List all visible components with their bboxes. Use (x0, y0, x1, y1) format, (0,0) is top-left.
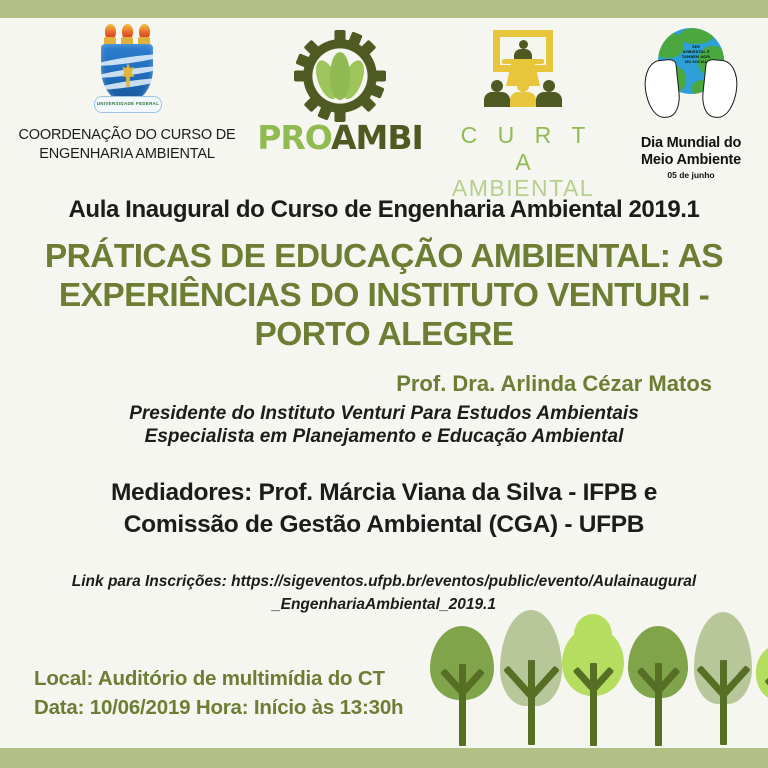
dia-mundial-title-line2: Meio Ambiente (618, 152, 764, 169)
ufpb-ribbon: UNIVERSIDADE FEDERAL DA PARAIBA (94, 96, 162, 113)
poster-content: Aula Inaugural do Curso de Engenharia Am… (0, 196, 768, 616)
event-logistics: Local: Auditório de multimídia do CT Dat… (34, 664, 403, 722)
audience-figure-icon (510, 80, 536, 106)
event-poster: UNIVERSIDADE FEDERAL DA PARAIBA COORDENA… (0, 0, 768, 768)
mediators-block: Mediadores: Prof. Márcia Viana da Silva … (0, 477, 768, 542)
speaker-role-line2: Especialista em Planejamento e Educação … (40, 425, 728, 449)
ufpb-caption-line1: COORDENAÇÃO DO CURSO DE (2, 126, 252, 145)
tree-crown-lobe (574, 614, 612, 656)
proambi-word-ambi: AMBI (331, 118, 423, 157)
audience-figure-icon (536, 80, 562, 106)
proambi-wordmark: PROAMBI (252, 118, 428, 157)
dia-mundial-subtitle: 05 de junho (618, 170, 764, 180)
tree-trunk (590, 663, 597, 746)
speaker-role-line1: Presidente do Instituto Venturi Para Est… (40, 402, 728, 426)
logo-ufpb: UNIVERSIDADE FEDERAL DA PARAIBA COORDENA… (2, 22, 252, 163)
tree-4 (628, 626, 688, 748)
event-datetime: Data: 10/06/2019 Hora: Início às 13:30h (34, 693, 403, 722)
top-accent-bar (0, 0, 768, 18)
tree-6 (756, 644, 768, 748)
shield-icon (101, 44, 153, 102)
dia-mundial-title-line1: Dia Mundial do (618, 135, 764, 152)
event-headline: Aula Inaugural do Curso de Engenharia Am… (0, 196, 768, 224)
presentation-audience-icon (468, 28, 578, 124)
curta-wordmark-line1: C U R T A (438, 122, 608, 176)
mediators-line2: Comissão de Gestão Ambiental (CGA) - UFP… (24, 509, 744, 541)
gear-leaf-icon (294, 30, 386, 122)
hand-right-icon (700, 58, 740, 119)
ufpb-caption-line2: ENGENHARIA AMBIENTAL (2, 145, 252, 164)
main-title-line3: PORTO ALEGRE (28, 316, 740, 355)
proambi-word-pro: PRO (257, 118, 331, 157)
tree-5 (694, 612, 752, 748)
event-location: Local: Auditório de multimídia do CT (34, 664, 403, 693)
audience-figure-icon (484, 80, 510, 106)
registration-link-line1[interactable]: Link para Inscrições: https://sigeventos… (60, 570, 708, 593)
logo-proambi: PROAMBI (252, 30, 428, 157)
bottom-accent-bar (0, 748, 768, 768)
logo-curta-ambiental: C U R T A AMBIENTAL (438, 28, 608, 202)
ufpb-coat-of-arms-icon: UNIVERSIDADE FEDERAL DA PARAIBA (88, 22, 166, 122)
event-main-title: PRÁTICAS DE EDUCAÇÃO AMBIENTAL: AS EXPER… (0, 238, 768, 355)
main-title-line1: PRÁTICAS DE EDUCAÇÃO AMBIENTAL: AS (28, 238, 740, 277)
logo-strip: UNIVERSIDADE FEDERAL DA PARAIBA COORDENA… (0, 18, 768, 196)
speaker-role: Presidente do Instituto Venturi Para Est… (0, 402, 768, 450)
tree-trunk (720, 660, 727, 745)
main-title-line2: EXPERIÊNCIAS DO INSTITUTO VENTURI - (28, 277, 740, 316)
tree-3 (562, 628, 624, 748)
speaker-name: Prof. Dra. Arlinda Cézar Matos (0, 371, 768, 397)
tree-2 (500, 610, 562, 748)
tree-trunk (655, 663, 662, 745)
registration-link-line2[interactable]: _EngenhariaAmbiental_2019.1 (60, 593, 708, 616)
tree-trunk (459, 664, 466, 745)
logo-dia-mundial: SER AMBIENTAL É TAMBÉM AGIR NO SOCIAL Di… (618, 26, 764, 180)
mediators-line1: Mediadores: Prof. Márcia Viana da Silva … (24, 477, 744, 509)
tree-crown (756, 644, 768, 702)
ufpb-caption: COORDENAÇÃO DO CURSO DE ENGENHARIA AMBIE… (2, 126, 252, 163)
dia-mundial-title: Dia Mundial do Meio Ambiente (618, 135, 764, 168)
tree-1 (430, 626, 494, 748)
hand-left-icon (642, 58, 682, 119)
globe-in-hands-icon: SER AMBIENTAL É TAMBÉM AGIR NO SOCIAL (631, 26, 751, 134)
tree-trunk (528, 660, 535, 745)
registration-link[interactable]: Link para Inscrições: https://sigeventos… (0, 570, 768, 617)
